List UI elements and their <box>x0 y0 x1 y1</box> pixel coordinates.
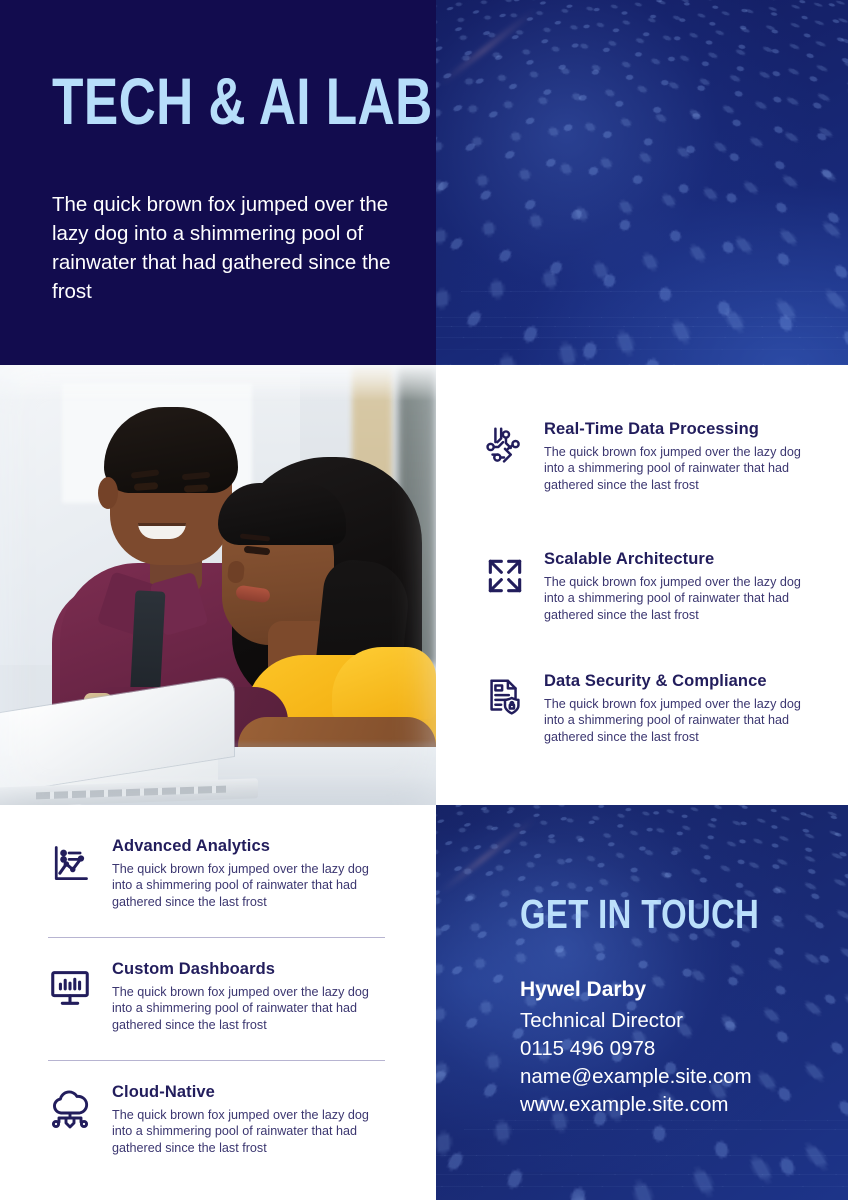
feature-body: The quick brown fox jumped over the lazy… <box>112 1107 380 1156</box>
circuit-board-icon <box>480 420 530 472</box>
feature-item-custom-dashboards[interactable]: Custom Dashboards The quick brown fox ju… <box>44 960 380 1033</box>
contact-panel: GET IN TOUCH Hywel Darby Technical Direc… <box>436 805 848 1200</box>
feature-text: Scalable Architecture The quick brown fo… <box>544 550 812 623</box>
feature-text: Real-Time Data Processing The quick brow… <box>544 420 812 493</box>
header-banner: TECH & AI LAB The quick brown fox jumped… <box>0 0 848 365</box>
header-subtitle: The quick brown fox jumped over the lazy… <box>52 190 412 306</box>
contact-details: Hywel Darby Technical Director 0115 496 … <box>520 978 752 1119</box>
feature-text: Advanced Analytics The quick brown fox j… <box>112 837 380 910</box>
feature-text: Custom Dashboards The quick brown fox ju… <box>112 960 380 1033</box>
feature-title: Advanced Analytics <box>112 837 380 856</box>
feature-body: The quick brown fox jumped over the lazy… <box>112 861 380 910</box>
document-shield-lock-icon <box>480 672 530 724</box>
feature-body: The quick brown fox jumped over the lazy… <box>112 984 380 1033</box>
feature-title: Custom Dashboards <box>112 960 380 979</box>
header-decorative-pattern <box>436 0 848 365</box>
features-right-panel: Real-Time Data Processing The quick brow… <box>436 365 848 805</box>
feature-item-scalable-architecture[interactable]: Scalable Architecture The quick brown fo… <box>480 550 812 623</box>
feature-title: Cloud-Native <box>112 1083 380 1102</box>
team-photo <box>0 365 436 805</box>
page-title: TECH & AI LAB <box>52 70 433 133</box>
feature-item-data-security-compliance[interactable]: Data Security & Compliance The quick bro… <box>480 672 812 745</box>
contact-role: Technical Director <box>520 1007 752 1035</box>
contact-phone[interactable]: 0115 496 0978 <box>520 1035 752 1063</box>
poster: TECH & AI LAB The quick brown fox jumped… <box>0 0 848 1200</box>
line-chart-icon <box>44 837 96 891</box>
feature-text: Data Security & Compliance The quick bro… <box>544 672 812 745</box>
photo-vignette <box>0 365 436 805</box>
feature-divider <box>48 1060 385 1061</box>
contact-name: Hywel Darby <box>520 978 752 1002</box>
features-left-panel: Advanced Analytics The quick brown fox j… <box>0 805 436 1200</box>
feature-body: The quick brown fox jumped over the lazy… <box>544 696 812 745</box>
feature-divider <box>48 937 385 938</box>
feature-title: Real-Time Data Processing <box>544 420 812 439</box>
mesh-grid-pattern <box>436 1110 848 1200</box>
feature-body: The quick brown fox jumped over the lazy… <box>544 444 812 493</box>
feature-title: Data Security & Compliance <box>544 672 812 691</box>
feature-item-real-time-data-processing[interactable]: Real-Time Data Processing The quick brow… <box>480 420 812 493</box>
contact-title: GET IN TOUCH <box>520 891 759 938</box>
feature-item-advanced-analytics[interactable]: Advanced Analytics The quick brown fox j… <box>44 837 380 910</box>
contact-website[interactable]: www.example.site.com <box>520 1091 752 1119</box>
monitor-bar-chart-icon <box>44 960 96 1014</box>
header-text-panel: TECH & AI LAB The quick brown fox jumped… <box>0 0 436 365</box>
feature-text: Cloud-Native The quick brown fox jumped … <box>112 1083 380 1156</box>
contact-email[interactable]: name@example.site.com <box>520 1063 752 1091</box>
expand-arrows-icon <box>480 550 530 602</box>
cloud-network-icon <box>44 1083 96 1137</box>
feature-item-cloud-native[interactable]: Cloud-Native The quick brown fox jumped … <box>44 1083 380 1156</box>
feature-title: Scalable Architecture <box>544 550 812 569</box>
feature-body: The quick brown fox jumped over the lazy… <box>544 574 812 623</box>
